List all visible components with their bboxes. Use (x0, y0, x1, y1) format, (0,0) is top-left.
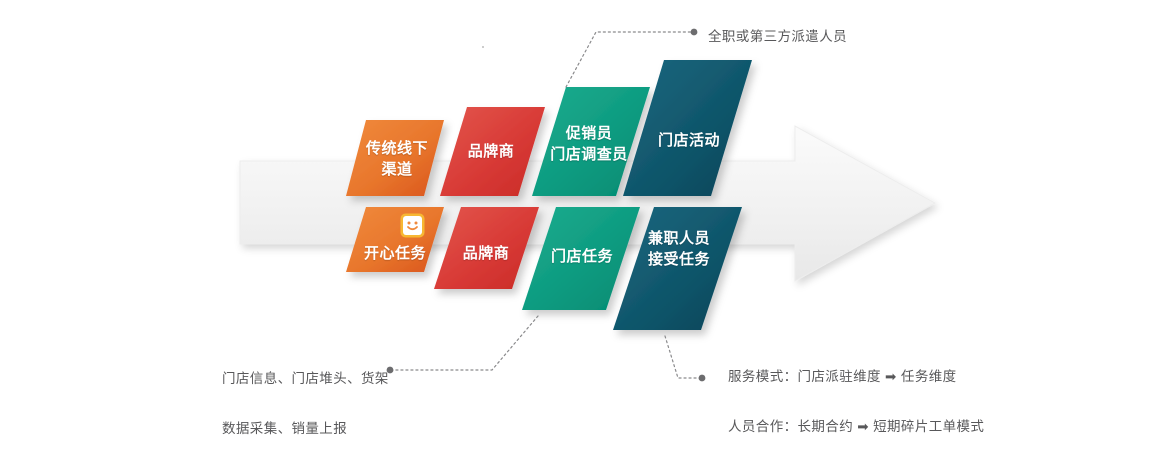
annotation-top-right: 全职或第三方派遣人员 (708, 24, 847, 49)
annotation-bottom-left: 门店信息、门店堆头、货架 数据采集、销量上报 (222, 341, 389, 466)
annotation-bottom-left-line1: 门店信息、门店堆头、货架 (222, 366, 389, 391)
annotation-bottom-right: 服务模式：门店派驻维度 ➡ 任务维度 人员合作：长期合约 ➡ 短期碎片工单模式 (728, 339, 984, 464)
leader-bottom-left (392, 316, 538, 370)
smiley-icon (400, 213, 425, 238)
diagram-canvas: 传统线下 渠道 品牌商 促销员 门店调查员 门店活动 开心任务 品牌商 门店任务… (0, 0, 1150, 430)
row-traditional (346, 60, 752, 196)
leader-dot-top-right (691, 29, 698, 36)
annotation-bottom-left-line2: 数据采集、销量上报 (222, 416, 389, 441)
leader-bottom-right (665, 336, 700, 378)
annotation-bottom-right-line2: 人员合作：长期合约 ➡ 短期碎片工单模式 (728, 414, 984, 439)
speck-artifact (482, 46, 484, 48)
annotation-bottom-right-line1: 服务模式：门店派驻维度 ➡ 任务维度 (728, 364, 984, 389)
leader-dot-bottom-right (699, 375, 706, 382)
